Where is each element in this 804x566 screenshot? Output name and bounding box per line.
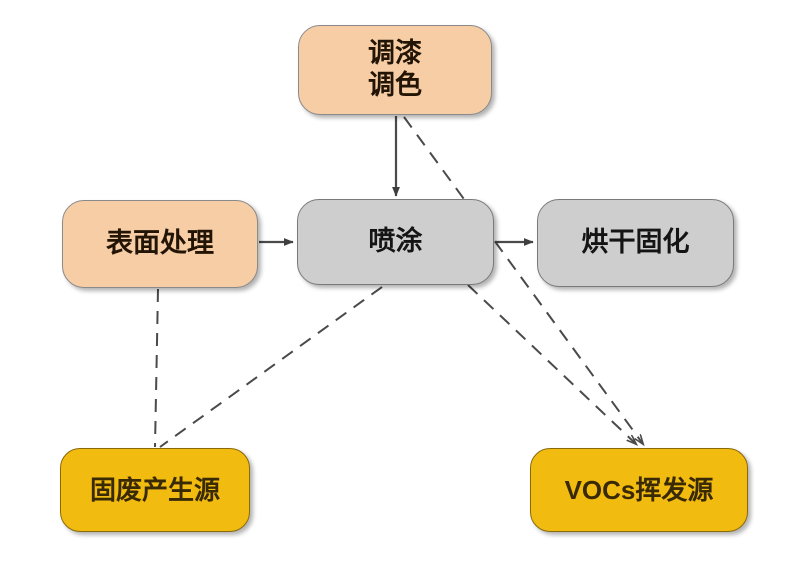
node-solid-waste-source[interactable]: 固废产生源 xyxy=(60,448,250,532)
edge-pre-to-solid xyxy=(155,289,158,447)
node-vocs-emission-source[interactable]: VOCs挥发源 xyxy=(530,448,748,532)
node-drying-curing[interactable]: 烘干固化 xyxy=(537,199,734,287)
edge-spray-to-vocs xyxy=(468,285,636,444)
node-spraying[interactable]: 喷涂 xyxy=(297,199,494,285)
edge-spray-to-solid xyxy=(160,287,382,447)
diagram-canvas: 调漆 调色 表面处理 喷涂 烘干固化 固废产生源 VOCs挥发源 xyxy=(0,0,804,566)
node-surface-treatment[interactable]: 表面处理 xyxy=(62,200,258,288)
node-paint-mixing[interactable]: 调漆 调色 xyxy=(298,25,492,115)
